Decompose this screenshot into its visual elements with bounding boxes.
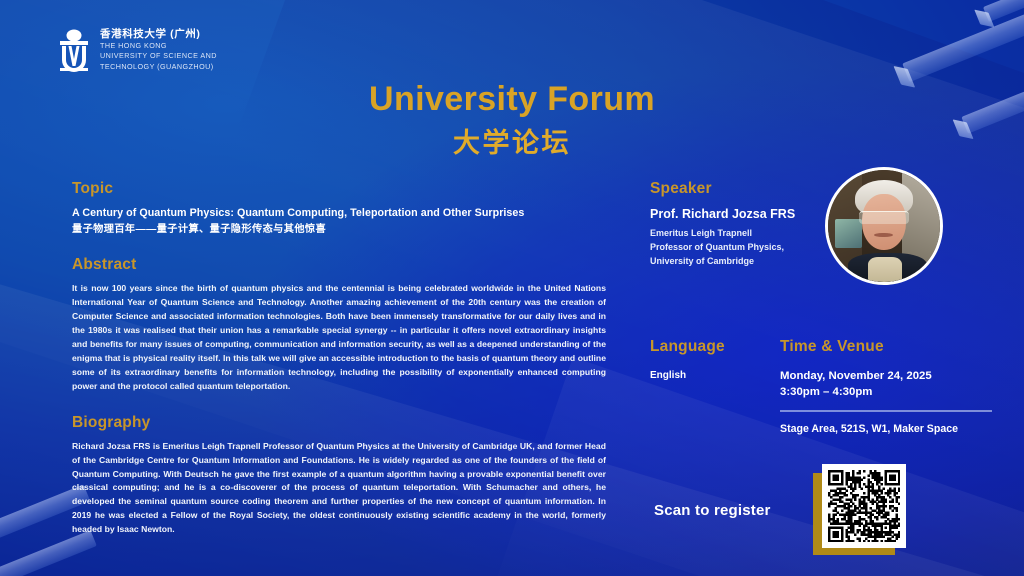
- biography-section: Biography Richard Jozsa FRS is Emeritus …: [72, 414, 606, 538]
- speaker-portrait: [825, 167, 943, 285]
- title-english: University Forum: [0, 82, 1024, 116]
- qr-code-card[interactable]: [822, 464, 906, 548]
- time-venue-heading: Time & Venue: [780, 338, 1010, 355]
- abstract-section: Abstract It is now 100 years since the b…: [72, 256, 606, 393]
- speaker-affiliation-line-2: Professor of Quantum Physics,: [650, 241, 1000, 255]
- decorative-bar-top-right-1: [902, 2, 1024, 82]
- language-value: English: [650, 370, 780, 381]
- topic-section: Topic A Century of Quantum Physics: Quan…: [72, 180, 606, 237]
- language-heading: Language: [650, 338, 780, 355]
- hkust-gz-logo-icon: [57, 28, 91, 72]
- logo-english-line-3: TECHNOLOGY (GUANGZHOU): [100, 62, 217, 72]
- university-forum-poster: 香港科技大学 (广州) THE HONG KONG UNIVERSITY OF …: [0, 0, 1024, 576]
- speaker-section: Speaker Prof. Richard Jozsa FRS Emeritus…: [650, 180, 1000, 269]
- left-content-column: Topic A Century of Quantum Physics: Quan…: [72, 180, 606, 537]
- details-row: Language English Time & Venue Monday, No…: [650, 338, 1010, 437]
- logo-chinese-name: 香港科技大学 (广州): [100, 28, 217, 41]
- event-time: 3:30pm – 4:30pm: [780, 384, 1010, 400]
- topic-heading: Topic: [72, 180, 606, 197]
- logo-text-block: 香港科技大学 (广州) THE HONG KONG UNIVERSITY OF …: [100, 28, 217, 72]
- time-venue-section: Time & Venue Monday, November 24, 2025 3…: [780, 338, 1010, 437]
- time-venue-divider: [780, 410, 992, 411]
- title-chinese: 大学论坛: [0, 130, 1024, 157]
- biography-body: Richard Jozsa FRS is Emeritus Leigh Trap…: [72, 440, 606, 537]
- logo-english-line-1: THE HONG KONG: [100, 41, 217, 51]
- right-content-column: Speaker Prof. Richard Jozsa FRS Emeritus…: [650, 180, 1000, 269]
- event-date: Monday, November 24, 2025: [780, 368, 1010, 384]
- biography-heading: Biography: [72, 414, 606, 431]
- event-venue: Stage Area, 521S, W1, Maker Space: [780, 422, 1010, 437]
- abstract-heading: Abstract: [72, 256, 606, 273]
- abstract-body: It is now 100 years since the birth of q…: [72, 282, 606, 393]
- logo-english-line-2: UNIVERSITY OF SCIENCE AND: [100, 51, 217, 61]
- topic-title-chinese: 量子物理百年——量子计算、量子隐形传态与其他惊喜: [72, 223, 606, 237]
- speaker-affiliation-line-3: University of Cambridge: [650, 255, 1000, 269]
- decorative-bar-top-right-3: [983, 0, 1024, 22]
- language-section: Language English: [650, 338, 780, 437]
- university-logo: 香港科技大学 (广州) THE HONG KONG UNIVERSITY OF …: [57, 28, 217, 72]
- speaker-heading: Speaker: [650, 180, 1000, 197]
- registration-qr-code[interactable]: [828, 470, 900, 542]
- poster-title: University Forum 大学论坛: [0, 82, 1024, 157]
- register-section: Scan to register: [650, 462, 1010, 562]
- scan-to-register-label: Scan to register: [654, 502, 771, 519]
- topic-title-english: A Century of Quantum Physics: Quantum Co…: [72, 206, 606, 220]
